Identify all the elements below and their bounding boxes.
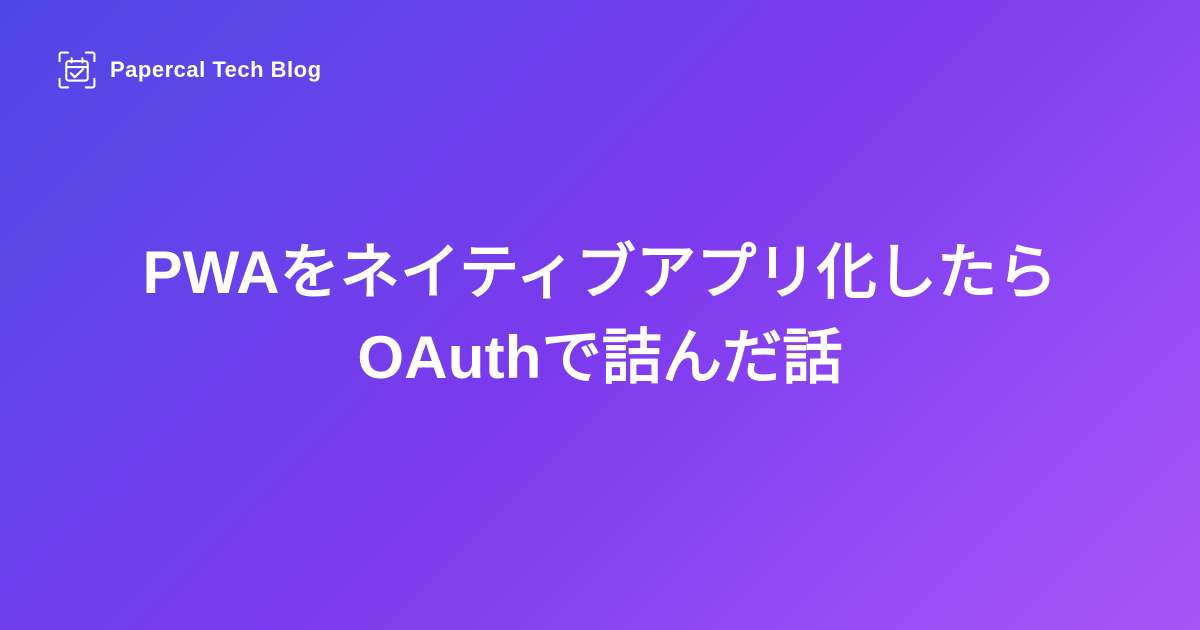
title-line-1: PWAをネイティブアプリ化したら <box>142 230 1057 315</box>
title-container: PWAをネイティブアプリ化したら OAuthで詰んだ話 <box>0 0 1200 630</box>
ogp-card: Papercal Tech Blog PWAをネイティブアプリ化したら OAut… <box>0 0 1200 630</box>
page-title: PWAをネイティブアプリ化したら OAuthで詰んだ話 <box>142 230 1057 400</box>
title-line-2: OAuthで詰んだ話 <box>142 315 1057 400</box>
